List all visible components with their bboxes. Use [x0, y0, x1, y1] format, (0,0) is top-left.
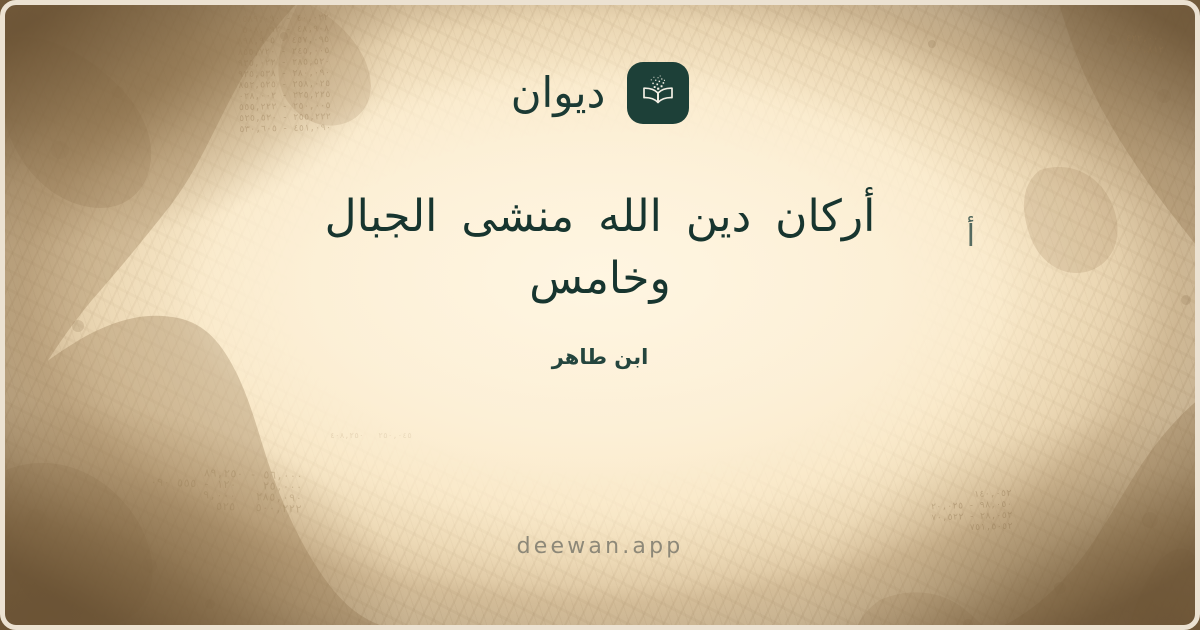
poem-verse: أركان دين الله منشى الجبال وخامس — [180, 186, 1020, 311]
poet-name: ابن طاهر — [552, 345, 649, 369]
quote-card: ٤٠,٠٢٢ - ٥٨٩,٠٩٠ ٤٨,٩٠٨ - ٥٠٨,٠٩٢ ٤٥٧,٠٩… — [0, 0, 1200, 630]
open-book-sparkles-icon — [627, 62, 689, 124]
poem-verse-line-2: وخامس — [180, 248, 1020, 310]
brand-lockup[interactable]: ديوان — [511, 62, 690, 124]
card-content: ديوان أركان دين الله منشى الجبال وخامس ا… — [0, 0, 1200, 630]
site-url-footer: deewan.app — [0, 534, 1200, 559]
poem-verse-line-1: أركان دين الله منشى الجبال — [180, 186, 1020, 248]
brand-wordmark: ديوان — [511, 72, 606, 114]
